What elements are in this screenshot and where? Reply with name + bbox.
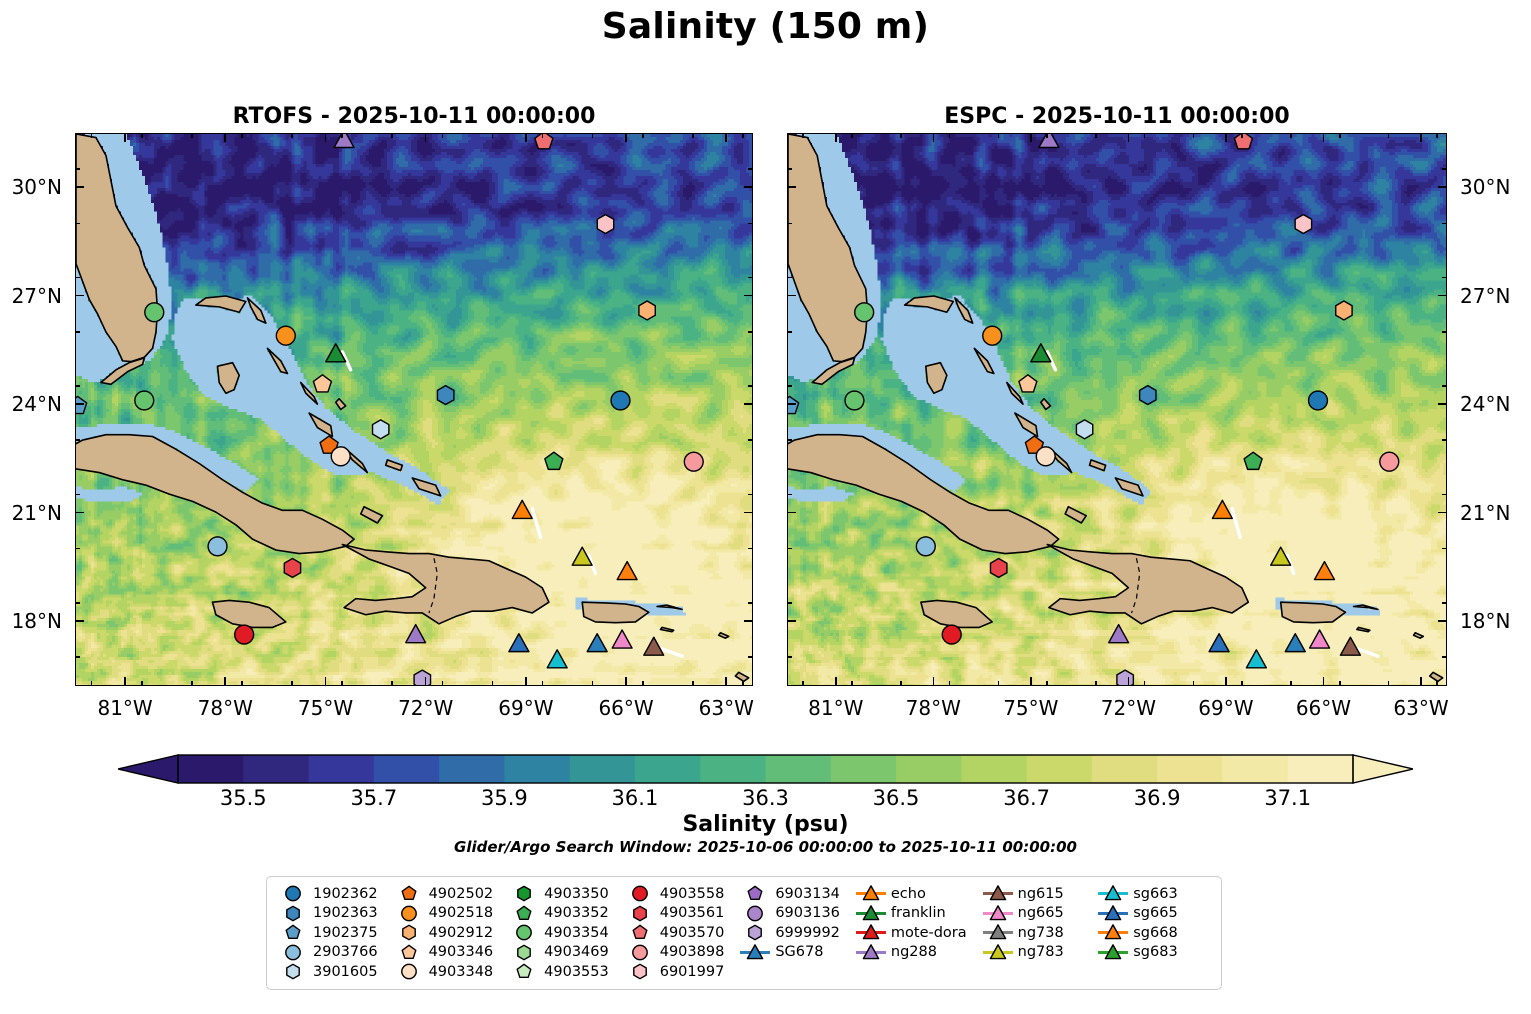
lat-tick-minor <box>787 223 792 225</box>
lat-tick-minor <box>1442 439 1447 441</box>
lat-tick <box>744 620 753 622</box>
legend-item-mote-dora[interactable]: mote-dora <box>854 923 981 943</box>
lon-tick-minor <box>1193 133 1195 138</box>
lon-tick-minor <box>1046 133 1048 138</box>
lon-tick-minor <box>391 133 393 138</box>
lat-tick-minor <box>748 439 753 441</box>
lon-ticklabel: 78°W <box>906 696 961 720</box>
lat-tick-minor <box>75 548 80 550</box>
triangle-marker-icon <box>854 904 888 923</box>
legend-column: sg663sg665sg668sg6830000000 <box>1096 884 1212 982</box>
colorbar-ticklabel: 35.7 <box>350 786 397 810</box>
legend-item-sg663[interactable]: sg663 <box>1096 884 1212 904</box>
legend-column: ng615ng665ng738ng7830000000 <box>981 884 1097 982</box>
lat-tick <box>1438 403 1447 405</box>
pentagon-marker-icon <box>507 904 541 923</box>
lon-ticklabel: 81°W <box>808 696 863 720</box>
lon-tick-minor <box>542 681 544 686</box>
lat-tick <box>75 512 84 514</box>
lon-ticklabel: 81°W <box>97 696 152 720</box>
lon-tick <box>224 677 226 686</box>
pentagon-marker-icon <box>392 884 426 903</box>
lat-tick-minor <box>75 439 80 441</box>
circle-marker-icon <box>623 943 657 962</box>
lat-ticklabel: 18°N <box>0 609 62 633</box>
legend-label: sg665 <box>1130 905 1191 921</box>
hexagon-marker-icon <box>738 923 772 942</box>
lon-ticklabel: 66°W <box>598 696 653 720</box>
lon-tick <box>525 677 527 686</box>
lon-tick-minor <box>291 133 293 138</box>
lon-tick <box>835 677 837 686</box>
lon-tick <box>1420 677 1422 686</box>
lat-tick-minor <box>748 385 753 387</box>
search-window-caption: Glider/Argo Search Window: 2025-10-06 00… <box>0 838 1531 856</box>
circle-marker-icon <box>738 904 772 923</box>
legend-label: 4903469 <box>541 944 623 960</box>
lon-tick-minor <box>91 133 93 138</box>
pentagon-marker-icon <box>276 923 310 942</box>
lon-tick <box>525 133 527 142</box>
legend-item-2903766[interactable]: 2903766 <box>276 943 392 963</box>
legend-label: 1902375 <box>310 925 392 941</box>
legend-item-4903346[interactable]: 4903346 <box>392 943 508 963</box>
legend-label: sg683 <box>1130 944 1191 960</box>
lon-tick <box>124 133 126 142</box>
legend-label: ng665 <box>1015 905 1078 921</box>
legend-column: 49035584903561490357049038986901997 <box>623 884 739 982</box>
lon-tick-minor <box>492 681 494 686</box>
lon-tick <box>1225 133 1227 142</box>
legend-label: 4903570 <box>657 925 739 941</box>
triangle-marker-icon <box>1096 943 1130 962</box>
lon-tick-minor <box>802 133 804 138</box>
lat-tick-minor <box>1442 602 1447 604</box>
triangle-marker-icon <box>981 943 1015 962</box>
legend-item-4903898[interactable]: 4903898 <box>623 943 739 963</box>
legend-label: 6903136 <box>772 905 854 921</box>
lon-tick-minor <box>802 681 804 686</box>
lon-tick-minor <box>642 681 644 686</box>
lon-tick-minor <box>742 681 744 686</box>
legend-item-ng665[interactable]: ng665 <box>981 904 1097 924</box>
legend-column: 49033504903352490335449034694903553 <box>507 884 623 982</box>
lon-tick <box>835 133 837 142</box>
lon-tick-minor <box>642 133 644 138</box>
panel-title-espc: ESPC - 2025-10-11 00:00:00 <box>787 104 1447 129</box>
lon-tick-minor <box>442 681 444 686</box>
lat-ticklabel: 24°N <box>0 392 62 416</box>
lat-tick <box>744 512 753 514</box>
legend-item-6903134[interactable]: 6903134 <box>738 884 854 904</box>
lat-tick <box>744 186 753 188</box>
lat-tick-minor <box>75 602 80 604</box>
legend-item-sg683[interactable]: sg683 <box>1096 943 1212 963</box>
lon-tick-minor <box>492 133 494 138</box>
lat-tick-minor <box>1442 331 1447 333</box>
legend-label: 1902362 <box>310 886 392 902</box>
lon-tick <box>625 133 627 142</box>
lon-tick <box>1225 677 1227 686</box>
lon-tick-minor <box>692 133 694 138</box>
lon-tick-minor <box>442 133 444 138</box>
lat-tick-minor <box>748 277 753 279</box>
legend-label: mote-dora <box>888 925 981 941</box>
lat-tick-minor <box>748 548 753 550</box>
lat-tick-minor <box>787 277 792 279</box>
lat-tick-minor <box>75 223 80 225</box>
lon-tick <box>1420 133 1422 142</box>
lon-tick <box>625 677 627 686</box>
pentagon-marker-icon <box>738 884 772 903</box>
legend-label: 4903561 <box>657 905 739 921</box>
lat-tick <box>787 295 796 297</box>
lon-tick-minor <box>1290 681 1292 686</box>
colorbar-ticklabel: 36.1 <box>612 786 659 810</box>
legend-label: 4903354 <box>541 925 623 941</box>
lon-tick-minor <box>1436 681 1438 686</box>
colorbar-label: Salinity (psu) <box>0 812 1531 837</box>
lon-tick-minor <box>542 133 544 138</box>
lon-tick-minor <box>341 681 343 686</box>
lat-ticklabel: 24°N <box>1460 392 1510 416</box>
lat-tick-minor <box>1442 168 1447 170</box>
colorbar-ticklabel: 37.1 <box>1264 786 1311 810</box>
legend-item-ng288[interactable]: ng288 <box>854 943 981 963</box>
colorbar-ticklabel: 36.7 <box>1003 786 1050 810</box>
legend-item-sg668[interactable]: sg668 <box>1096 923 1212 943</box>
legend-column: echofranklinmote-dorang2880000000 <box>854 884 981 982</box>
lat-tick <box>75 403 84 405</box>
lon-tick-minor <box>851 681 853 686</box>
lat-tick-minor <box>787 385 792 387</box>
legend-label: franklin <box>888 905 960 921</box>
lat-tick-minor <box>787 331 792 333</box>
lon-tick <box>425 133 427 142</box>
lat-ticklabel: 27°N <box>1460 284 1510 308</box>
legend-label: SG678 <box>772 944 837 960</box>
legend-item-4903354[interactable]: 4903354 <box>507 923 623 943</box>
lon-tick-minor <box>998 133 1000 138</box>
colorbar-gradient <box>118 753 1413 785</box>
legend-label: 4902912 <box>426 925 508 941</box>
lat-tick <box>1438 512 1447 514</box>
lon-tick-minor <box>1144 681 1146 686</box>
lon-tick <box>1128 677 1130 686</box>
lat-ticklabel: 21°N <box>1460 501 1510 525</box>
lon-ticklabel: 69°W <box>1198 696 1253 720</box>
lon-tick <box>725 133 727 142</box>
legend-item-sg665[interactable]: sg665 <box>1096 904 1212 924</box>
lat-tick-minor <box>75 168 80 170</box>
lat-tick-minor <box>748 223 753 225</box>
legend-item-franklin[interactable]: franklin <box>854 904 981 924</box>
circle-marker-icon <box>623 884 657 903</box>
circle-marker-icon <box>507 923 541 942</box>
pentagon-marker-icon <box>392 943 426 962</box>
legend-label: 4903346 <box>426 944 508 960</box>
lon-tick-minor <box>742 133 744 138</box>
lon-tick-minor <box>1241 133 1243 138</box>
legend-item-echo[interactable]: echo <box>854 884 981 904</box>
lon-tick <box>725 677 727 686</box>
lon-tick <box>1030 133 1032 142</box>
lon-tick-minor <box>998 681 1000 686</box>
legend-label: 6999992 <box>772 925 854 941</box>
legend-item-ng615[interactable]: ng615 <box>981 884 1097 904</box>
lat-tick-minor <box>1442 277 1447 279</box>
legend-label: 4903558 <box>657 886 739 902</box>
legend-item-1902362[interactable]: 1902362 <box>276 884 392 904</box>
lat-tick <box>75 295 84 297</box>
legend-item-4903348[interactable]: 4903348 <box>392 962 508 982</box>
legend-item-4903553[interactable]: 4903553 <box>507 962 623 982</box>
legend-label: 6901997 <box>657 964 739 980</box>
lon-ticklabel: 78°W <box>198 696 253 720</box>
triangle-marker-icon <box>1096 923 1130 942</box>
panel-title-rtofs: RTOFS - 2025-10-11 00:00:00 <box>75 104 753 129</box>
lon-tick-minor <box>141 133 143 138</box>
triangle-marker-icon <box>854 884 888 903</box>
colorbar-ticklabel: 35.9 <box>481 786 528 810</box>
figure-canvas: Salinity (150 m) RTOFS - 2025-10-11 00:0… <box>0 0 1531 1014</box>
legend-item-4903558[interactable]: 4903558 <box>623 884 739 904</box>
lat-tick-minor <box>748 656 753 658</box>
legend-item-4903469[interactable]: 4903469 <box>507 943 623 963</box>
lon-tick-minor <box>1290 133 1292 138</box>
legend-item-6903136[interactable]: 6903136 <box>738 904 854 924</box>
legend-item-4902912[interactable]: 4902912 <box>392 923 508 943</box>
triangle-marker-icon <box>981 923 1015 942</box>
lon-tick-minor <box>1436 133 1438 138</box>
lon-tick-minor <box>1339 133 1341 138</box>
lat-tick-minor <box>75 385 80 387</box>
lat-tick <box>75 620 84 622</box>
figure-title: Salinity (150 m) <box>0 6 1531 47</box>
lat-ticklabel: 18°N <box>1460 609 1510 633</box>
lon-tick <box>124 677 126 686</box>
hexagon-marker-icon <box>392 923 426 942</box>
lon-tick-minor <box>341 133 343 138</box>
legend-label: 3901605 <box>310 964 392 980</box>
triangle-marker-icon <box>981 884 1015 903</box>
legend-label: 6903134 <box>772 886 854 902</box>
lon-tick-minor <box>692 681 694 686</box>
legend-label: sg668 <box>1130 925 1191 941</box>
triangle-marker-icon <box>1096 904 1130 923</box>
circle-marker-icon <box>392 904 426 923</box>
lat-ticklabel: 21°N <box>0 501 62 525</box>
legend-item-4903570[interactable]: 4903570 <box>623 923 739 943</box>
lat-tick <box>787 512 796 514</box>
lon-tick-minor <box>1095 681 1097 686</box>
lat-ticklabel: 30°N <box>0 175 62 199</box>
legend-item-4902518[interactable]: 4902518 <box>392 904 508 924</box>
legend-item-6901997[interactable]: 6901997 <box>623 962 739 982</box>
triangle-marker-icon <box>738 943 772 962</box>
lat-tick-minor <box>748 168 753 170</box>
lon-tick-minor <box>1144 133 1146 138</box>
legend-label: ng738 <box>1015 925 1078 941</box>
lon-ticklabel: 63°W <box>699 696 754 720</box>
lon-tick <box>425 677 427 686</box>
lon-tick-minor <box>1388 681 1390 686</box>
lon-ticklabel: 72°W <box>398 696 453 720</box>
lon-ticklabel: 66°W <box>1296 696 1351 720</box>
legend-label: 1902363 <box>310 905 392 921</box>
map-render-rtofs <box>76 134 752 685</box>
lat-ticklabel: 30°N <box>1460 175 1510 199</box>
lon-tick-minor <box>949 133 951 138</box>
lat-tick <box>75 186 84 188</box>
pentagon-marker-icon <box>623 923 657 942</box>
triangle-marker-icon <box>854 943 888 962</box>
lon-tick-minor <box>1241 681 1243 686</box>
legend-item-SG678[interactable]: SG678 <box>738 943 854 963</box>
lat-tick <box>1438 295 1447 297</box>
map-panel-espc[interactable] <box>787 133 1447 686</box>
lon-tick-minor <box>191 133 193 138</box>
lon-ticklabel: 72°W <box>1101 696 1156 720</box>
legend-column: 19023621902363190237529037663901605 <box>276 884 392 982</box>
legend-label: echo <box>888 886 940 902</box>
legend-label: 4902518 <box>426 905 508 921</box>
map-panel-rtofs[interactable] <box>75 133 753 686</box>
lon-tick <box>1030 677 1032 686</box>
lon-tick-minor <box>291 681 293 686</box>
lat-tick-minor <box>748 494 753 496</box>
lon-tick-minor <box>1193 681 1195 686</box>
legend-label: 2903766 <box>310 944 392 960</box>
lon-tick <box>933 677 935 686</box>
legend-item-4903352[interactable]: 4903352 <box>507 904 623 924</box>
lat-tick-minor <box>787 439 792 441</box>
legend-item-ng783[interactable]: ng783 <box>981 943 1097 963</box>
legend-label: sg663 <box>1130 886 1191 902</box>
lon-tick-minor <box>1339 681 1341 686</box>
legend-label: ng288 <box>888 944 951 960</box>
legend-item-3901605[interactable]: 3901605 <box>276 962 392 982</box>
lon-ticklabel: 63°W <box>1393 696 1448 720</box>
lat-tick <box>1438 620 1447 622</box>
lat-tick-minor <box>1442 385 1447 387</box>
lat-tick-minor <box>748 602 753 604</box>
lon-tick <box>224 133 226 142</box>
lon-tick-minor <box>592 681 594 686</box>
lon-tick-minor <box>241 133 243 138</box>
lon-tick-minor <box>91 681 93 686</box>
circle-marker-icon <box>392 962 426 981</box>
lon-tick <box>325 133 327 142</box>
lon-tick <box>325 677 327 686</box>
lat-ticklabel: 27°N <box>0 284 62 308</box>
hexagon-marker-icon <box>276 904 310 923</box>
hexagon-marker-icon <box>507 943 541 962</box>
lon-tick-minor <box>1388 133 1390 138</box>
lat-tick <box>787 186 796 188</box>
map-render-espc <box>788 134 1446 685</box>
lon-tick-minor <box>141 681 143 686</box>
hexagon-marker-icon <box>623 962 657 981</box>
circle-marker-icon <box>276 884 310 903</box>
lon-tick <box>933 133 935 142</box>
lon-tick <box>1323 133 1325 142</box>
lat-tick-minor <box>75 494 80 496</box>
colorbar-ticklabel: 36.9 <box>1134 786 1181 810</box>
legend-column: 49025024902518490291249033464903348 <box>392 884 508 982</box>
lat-tick-minor <box>787 548 792 550</box>
legend-column: 690313469031366999992SG6780000000 <box>738 884 854 982</box>
lat-tick-minor <box>787 168 792 170</box>
hexagon-marker-icon <box>623 904 657 923</box>
lon-tick-minor <box>241 681 243 686</box>
lat-tick-minor <box>787 494 792 496</box>
colorbar-ticklabel: 36.3 <box>742 786 789 810</box>
pentagon-marker-icon <box>507 962 541 981</box>
legend-item-1902375[interactable]: 1902375 <box>276 923 392 943</box>
hexagon-marker-icon <box>276 962 310 981</box>
lat-tick-minor <box>748 331 753 333</box>
triangle-marker-icon <box>1096 884 1130 903</box>
lon-ticklabel: 69°W <box>498 696 553 720</box>
legend-item-4903561[interactable]: 4903561 <box>623 904 739 924</box>
legend-label: 4903898 <box>657 944 739 960</box>
lon-ticklabel: 75°W <box>298 696 353 720</box>
lon-tick-minor <box>1095 133 1097 138</box>
hexagon-marker-icon <box>507 884 541 903</box>
triangle-marker-icon <box>854 923 888 942</box>
lat-tick-minor <box>1442 656 1447 658</box>
lon-tick-minor <box>592 133 594 138</box>
lon-tick-minor <box>900 681 902 686</box>
lon-tick <box>1323 677 1325 686</box>
lon-tick <box>1128 133 1130 142</box>
lon-ticklabel: 75°W <box>1003 696 1058 720</box>
lon-tick-minor <box>1046 681 1048 686</box>
colorbar-ticklabel: 36.5 <box>873 786 920 810</box>
lat-tick-minor <box>1442 223 1447 225</box>
legend-item-ng738[interactable]: ng738 <box>981 923 1097 943</box>
legend-item-6999992[interactable]: 6999992 <box>738 923 854 943</box>
lon-tick-minor <box>949 681 951 686</box>
legend-label: 4902502 <box>426 886 508 902</box>
lat-tick-minor <box>1442 494 1447 496</box>
lat-tick-minor <box>1442 548 1447 550</box>
lon-tick-minor <box>900 133 902 138</box>
legend-label: ng615 <box>1015 886 1078 902</box>
triangle-marker-icon <box>981 904 1015 923</box>
lat-tick <box>787 620 796 622</box>
legend-box[interactable]: 1902362190236319023752903766390160549025… <box>266 876 1222 990</box>
lat-tick <box>744 403 753 405</box>
lon-tick-minor <box>191 681 193 686</box>
legend-item-4902502[interactable]: 4902502 <box>392 884 508 904</box>
legend-label: 4903348 <box>426 964 508 980</box>
legend-label: 4903352 <box>541 905 623 921</box>
circle-marker-icon <box>276 943 310 962</box>
legend-label: 4903553 <box>541 964 623 980</box>
legend-label: 4903350 <box>541 886 623 902</box>
legend-item-4903350[interactable]: 4903350 <box>507 884 623 904</box>
lat-tick-minor <box>75 656 80 658</box>
legend-item-1902363[interactable]: 1902363 <box>276 904 392 924</box>
colorbar <box>118 753 1413 785</box>
lon-tick-minor <box>851 133 853 138</box>
lat-tick <box>787 403 796 405</box>
legend-label: ng783 <box>1015 944 1078 960</box>
lat-tick-minor <box>75 331 80 333</box>
lat-tick <box>1438 186 1447 188</box>
